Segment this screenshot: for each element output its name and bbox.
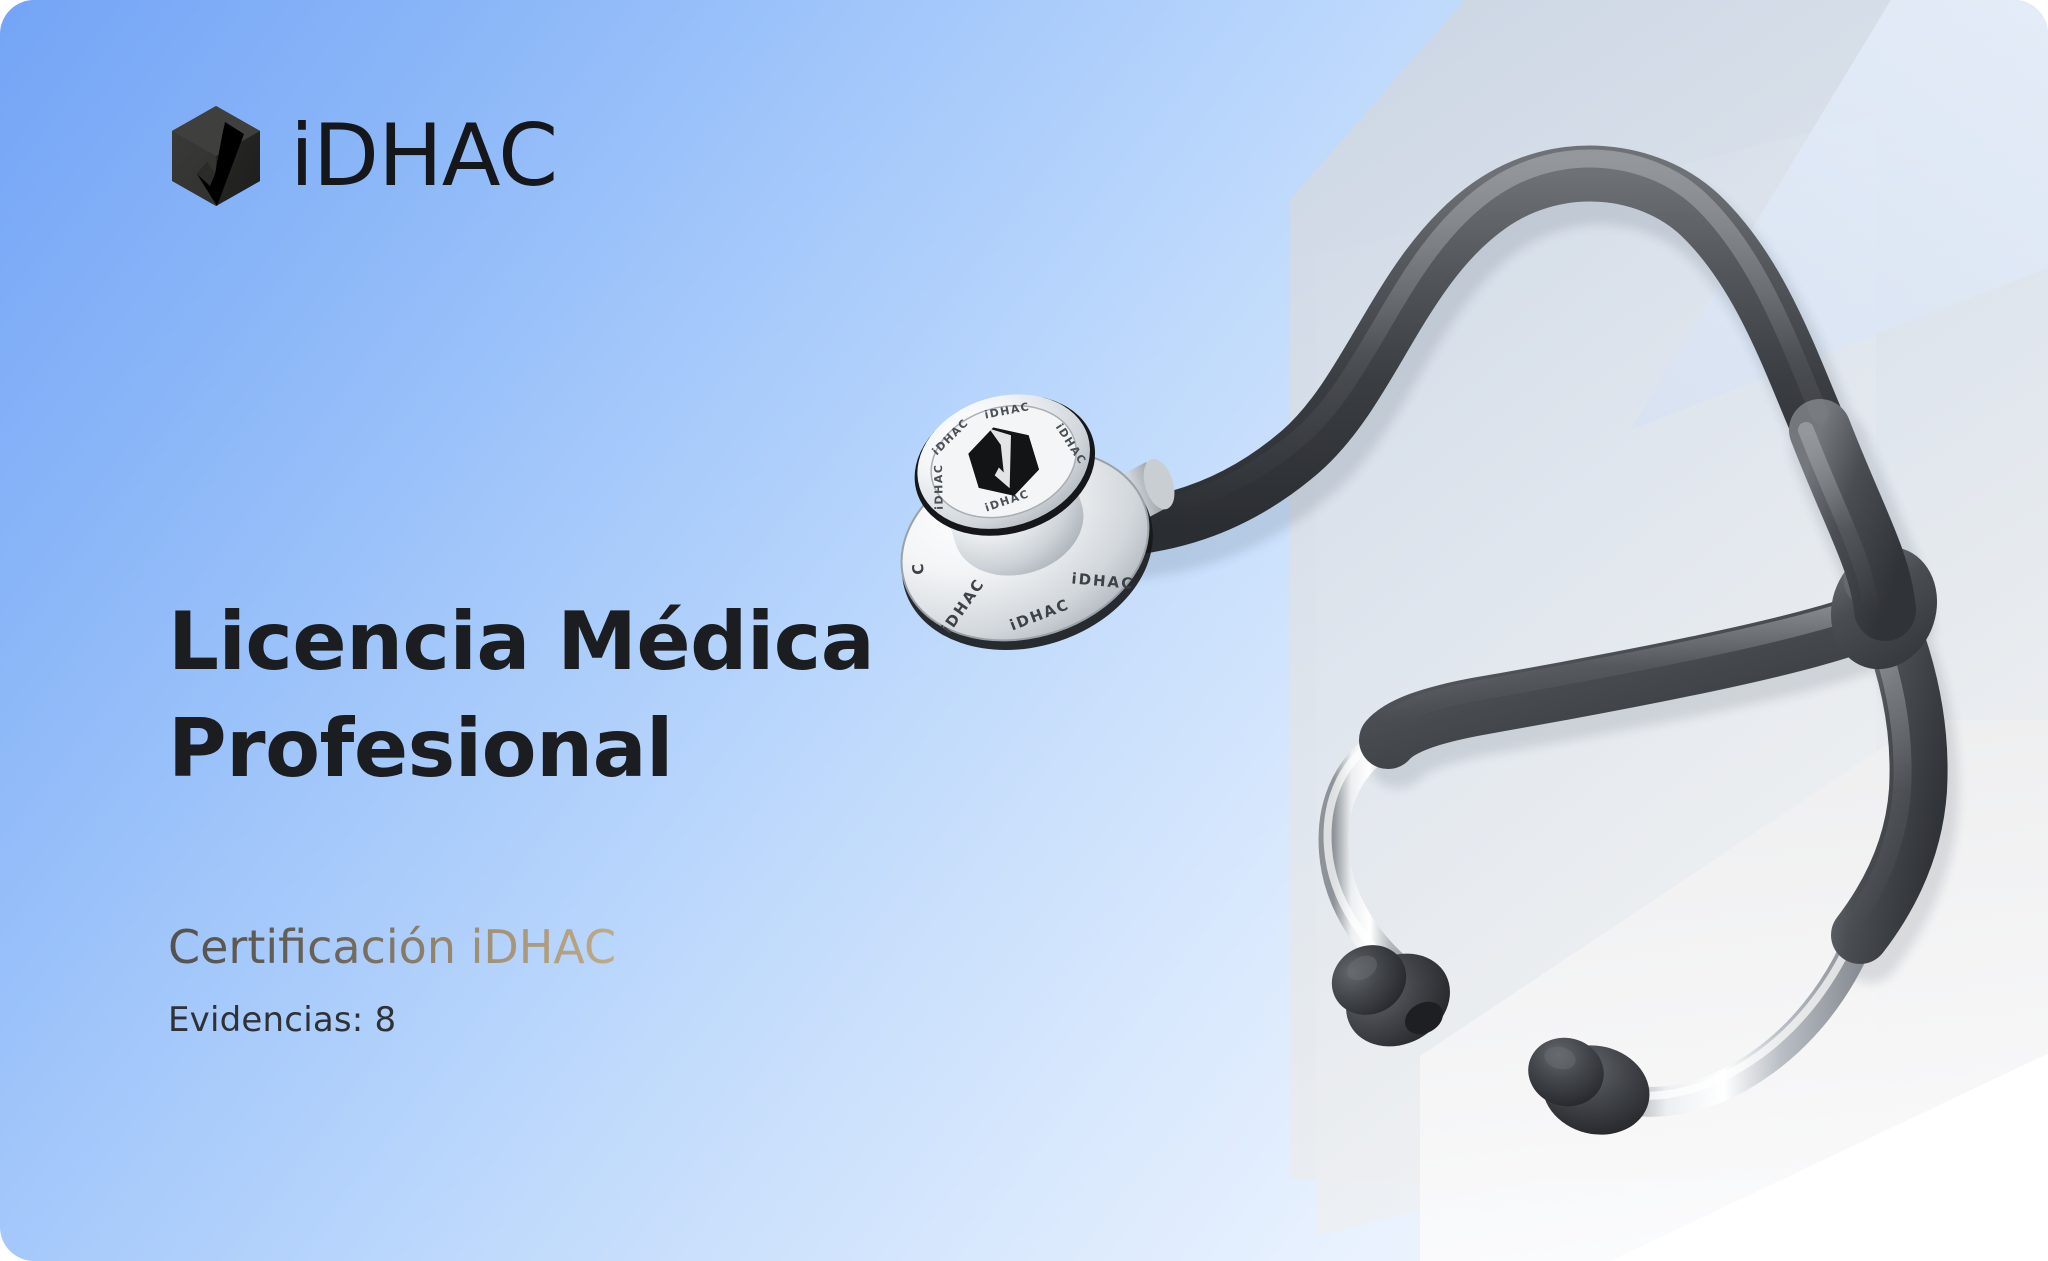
brand-lockup: iDHAC: [168, 104, 557, 208]
page-title-line-2: Profesional: [168, 702, 673, 795]
page-title: Licencia Médica Profesional: [168, 588, 928, 802]
svg-text:iDHAC: iDHAC: [1053, 421, 1089, 467]
card-content: iDHAC Licencia Médica Profesional Certif…: [168, 0, 1048, 1261]
ear-tip-right: [1521, 1030, 1659, 1146]
ear-tip-left: [1319, 932, 1466, 1064]
evidence-count-label: Evidencias: 8: [168, 1000, 396, 1040]
certification-subtitle: Certificación iDHAC: [168, 920, 616, 975]
stethoscope-shadow: [1103, 192, 1929, 953]
page-title-line-1: Licencia Médica: [168, 595, 874, 688]
stethoscope-tubing-lower: [1388, 596, 1919, 935]
geometric-slab: [1290, 0, 2048, 1180]
binaural-chrome-stems: [1328, 738, 1860, 1102]
svg-text:iDHAC: iDHAC: [1071, 569, 1135, 592]
geometric-bevel: [1630, 0, 2048, 430]
tubing-y-junction: [1815, 533, 1952, 683]
certificate-card: iDHAC iDHAC iDHAC C iDHAC iDHAC iDHAC iD…: [0, 0, 2048, 1261]
geometric-sheet-lower: [1380, 1010, 2048, 1261]
hexagon-check-logo-icon: [168, 104, 264, 208]
brand-wordmark: iDHAC: [290, 113, 557, 199]
stethoscope-tubing-upper: [1093, 159, 1885, 610]
geometric-face: [1316, 116, 1876, 1236]
geometric-sheet: [1420, 720, 2048, 1261]
